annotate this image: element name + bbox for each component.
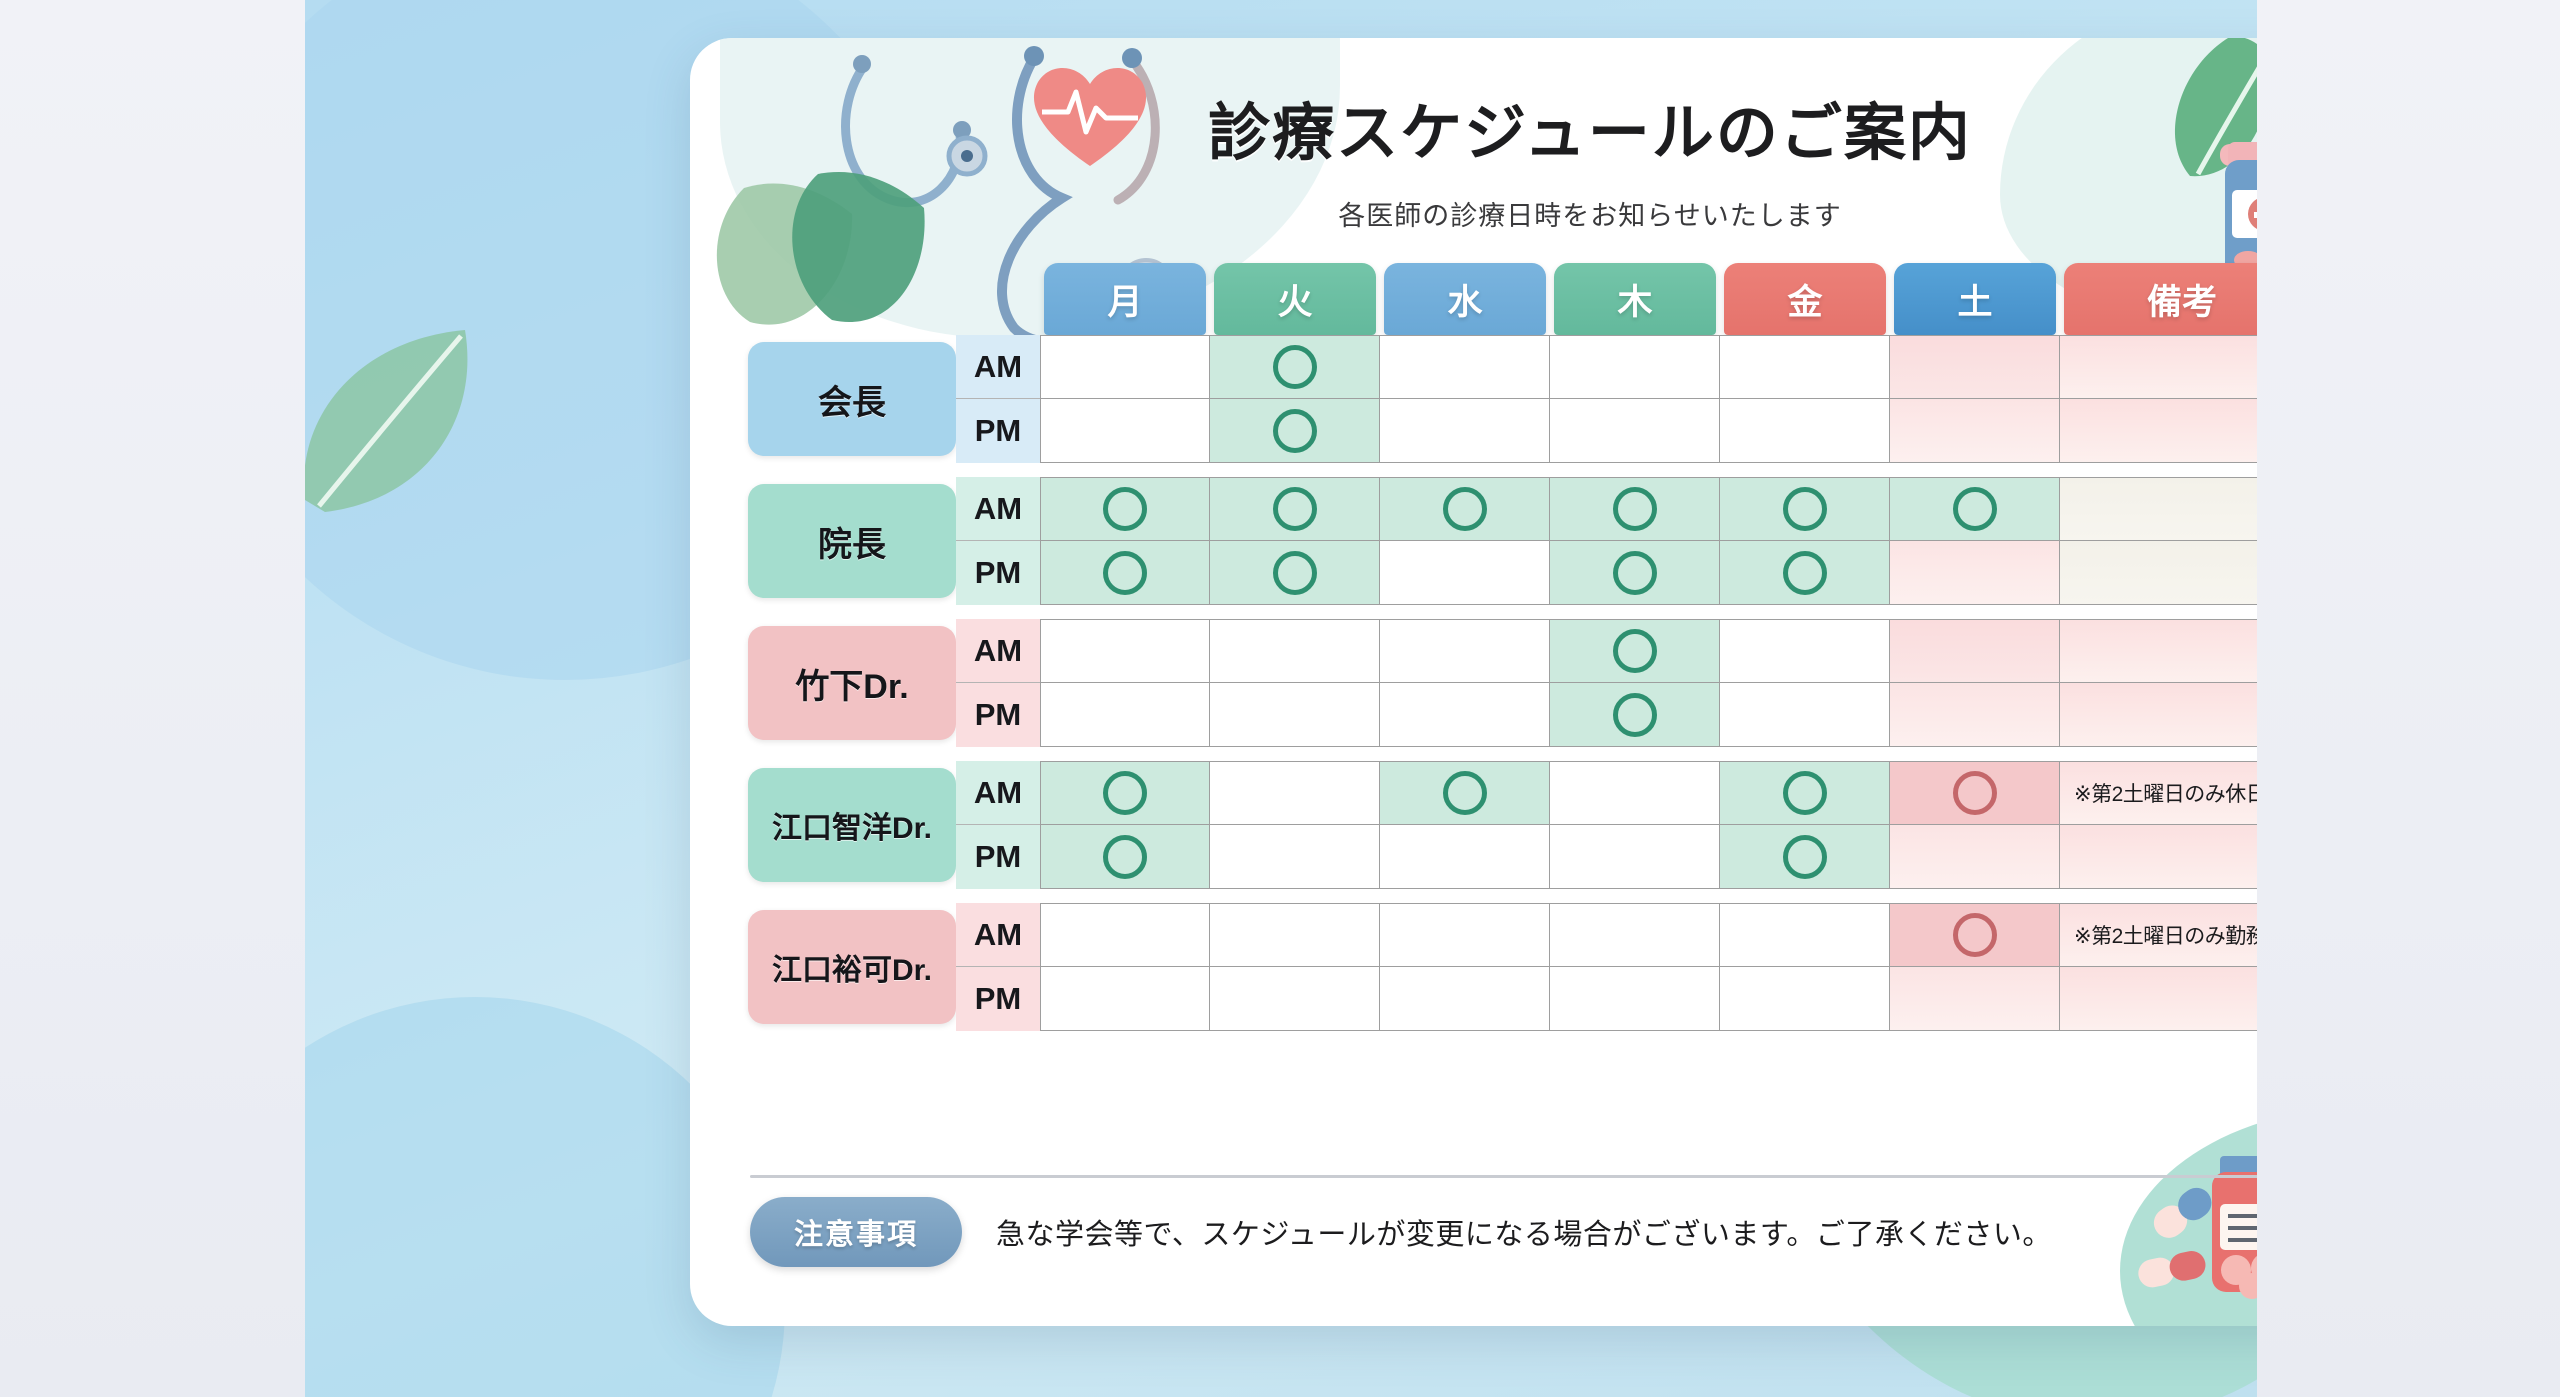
available-mark-icon	[1953, 487, 1997, 531]
available-mark-icon	[1613, 629, 1657, 673]
cell-takeshita-mon-am[interactable]	[1040, 619, 1210, 683]
period-label-am: AM	[956, 335, 1040, 399]
cell-takeshita-tue-am[interactable]	[1210, 619, 1380, 683]
page-subtitle: 各医師の診療日時をお知らせいたします	[690, 194, 2257, 233]
cell-eguchi-tomohiro-fri-am[interactable]	[1720, 761, 1890, 825]
cell-chairman-sat-am[interactable]	[1890, 335, 2060, 399]
available-mark-icon	[1613, 693, 1657, 737]
cell-chairman-remarks-pm[interactable]	[2060, 399, 2257, 463]
schedule-table: 月 火 水 木 金 土 備考 会長 AM	[748, 263, 2257, 1031]
cell-director-remarks-am[interactable]	[2060, 477, 2257, 541]
period-label-pm: PM	[956, 541, 1040, 605]
cell-eguchi-tomohiro-remarks[interactable]: ※第2土曜日のみ休日	[2060, 761, 2257, 825]
column-header-fri[interactable]: 金	[1724, 263, 1886, 335]
header: 診療スケジュールのご案内 各医師の診療日時をお知らせいたします	[690, 82, 2257, 233]
cell-chairman-tue-am[interactable]	[1210, 335, 1380, 399]
column-header-wed[interactable]: 水	[1384, 263, 1546, 335]
notice-text: 急な学会等で、スケジュールが変更になる場合がございます。ご了承ください。	[996, 1211, 2052, 1253]
cell-eguchi-tomohiro-remarks-pm[interactable]	[2060, 825, 2257, 889]
available-mark-icon	[1783, 835, 1827, 879]
period-label-pm: PM	[956, 683, 1040, 747]
notice-badge: 注意事項	[750, 1197, 962, 1267]
cell-director-fri-pm[interactable]	[1720, 541, 1890, 605]
cell-chairman-fri-pm[interactable]	[1720, 399, 1890, 463]
cell-chairman-fri-am[interactable]	[1720, 335, 1890, 399]
schedule-card: 診療スケジュールのご案内 各医師の診療日時をお知らせいたします 月 火 水 木 …	[690, 38, 2257, 1326]
available-mark-icon	[1783, 551, 1827, 595]
cell-eguchi-tomohiro-thu-pm[interactable]	[1550, 825, 1720, 889]
cell-takeshita-sat-am[interactable]	[1890, 619, 2060, 683]
cell-eguchi-yuka-remarks-pm[interactable]	[2060, 967, 2257, 1031]
available-mark-icon	[1443, 771, 1487, 815]
cell-chairman-mon-pm[interactable]	[1040, 399, 1210, 463]
available-mark-icon	[1273, 551, 1317, 595]
column-header-thu[interactable]: 木	[1554, 263, 1716, 335]
cell-takeshita-thu-pm[interactable]	[1550, 683, 1720, 747]
cell-takeshita-sat-pm[interactable]	[1890, 683, 2060, 747]
available-mark-icon	[1103, 771, 1147, 815]
cell-takeshita-fri-am[interactable]	[1720, 619, 1890, 683]
available-mark-icon	[1103, 487, 1147, 531]
cell-chairman-remarks-am[interactable]	[2060, 335, 2257, 399]
page-title: 診療スケジュールのご案内	[690, 82, 2257, 172]
cell-eguchi-yuka-wed-am[interactable]	[1380, 903, 1550, 967]
cell-director-fri-am[interactable]	[1720, 477, 1890, 541]
column-header-tue[interactable]: 火	[1214, 263, 1376, 335]
row-band-gap	[748, 463, 2257, 477]
screenshot-root: ✦ ✦	[0, 0, 2560, 1397]
column-header-sat[interactable]: 土	[1894, 263, 2056, 335]
cell-director-thu-pm[interactable]	[1550, 541, 1720, 605]
row-band-gap	[748, 747, 2257, 761]
cell-takeshita-thu-am[interactable]	[1550, 619, 1720, 683]
cell-eguchi-tomohiro-wed-am[interactable]	[1380, 761, 1550, 825]
cell-chairman-thu-am[interactable]	[1550, 335, 1720, 399]
footer-divider	[750, 1175, 2257, 1178]
cell-eguchi-tomohiro-mon-pm[interactable]	[1040, 825, 1210, 889]
schedule-grid: 月 火 水 木 金 土 備考 会長 AM	[748, 263, 2257, 1031]
cell-eguchi-tomohiro-tue-am[interactable]	[1210, 761, 1380, 825]
cell-director-wed-am[interactable]	[1380, 477, 1550, 541]
available-mark-icon	[1613, 551, 1657, 595]
row-label-eguchi-yuka: 江口裕可Dr.	[748, 910, 956, 1024]
row-label-eguchi-tomohiro: 江口智洋Dr.	[748, 768, 956, 882]
cell-director-remarks-pm[interactable]	[2060, 541, 2257, 605]
cell-director-tue-pm[interactable]	[1210, 541, 1380, 605]
cell-takeshita-mon-pm[interactable]	[1040, 683, 1210, 747]
cell-chairman-wed-am[interactable]	[1380, 335, 1550, 399]
available-mark-icon	[1273, 487, 1317, 531]
period-label-am: AM	[956, 761, 1040, 825]
period-label-am: AM	[956, 477, 1040, 541]
cell-eguchi-yuka-fri-am[interactable]	[1720, 903, 1890, 967]
cell-eguchi-yuka-tue-am[interactable]	[1210, 903, 1380, 967]
period-label-am: AM	[956, 619, 1040, 683]
cell-eguchi-yuka-sat-am[interactable]	[1890, 903, 2060, 967]
cell-eguchi-yuka-tue-pm[interactable]	[1210, 967, 1380, 1031]
cell-eguchi-tomohiro-sat-pm[interactable]	[1890, 825, 2060, 889]
cell-takeshita-tue-pm[interactable]	[1210, 683, 1380, 747]
cell-eguchi-yuka-remarks[interactable]: ※第2土曜日のみ勤務	[2060, 903, 2257, 967]
cell-chairman-wed-pm[interactable]	[1380, 399, 1550, 463]
available-mark-icon	[1273, 409, 1317, 453]
cell-takeshita-remarks-pm[interactable]	[2060, 683, 2257, 747]
cell-director-sat-am[interactable]	[1890, 477, 2060, 541]
row-band-gap	[748, 889, 2257, 903]
available-mark-icon	[1613, 487, 1657, 531]
header-spacer-ampm	[956, 263, 1040, 335]
row-label-chairman: 会長	[748, 342, 956, 456]
cell-eguchi-yuka-sat-pm[interactable]	[1890, 967, 2060, 1031]
cell-eguchi-tomohiro-sat-am[interactable]	[1890, 761, 2060, 825]
period-label-am: AM	[956, 903, 1040, 967]
cell-director-sat-pm[interactable]	[1890, 541, 2060, 605]
footer: 注意事項 急な学会等で、スケジュールが変更になる場合がございます。ご了承ください…	[750, 1196, 2257, 1268]
period-label-pm: PM	[956, 967, 1040, 1031]
cell-director-tue-am[interactable]	[1210, 477, 1380, 541]
poster-background: ✦ ✦	[305, 0, 2257, 1397]
cell-eguchi-tomohiro-mon-am[interactable]	[1040, 761, 1210, 825]
cell-eguchi-yuka-wed-pm[interactable]	[1380, 967, 1550, 1031]
cell-eguchi-tomohiro-wed-pm[interactable]	[1380, 825, 1550, 889]
conditional-mark-icon	[1953, 913, 1997, 957]
cell-chairman-sat-pm[interactable]	[1890, 399, 2060, 463]
cell-eguchi-yuka-mon-am[interactable]	[1040, 903, 1210, 967]
row-label-director: 院長	[748, 484, 956, 598]
cell-eguchi-yuka-thu-am[interactable]	[1550, 903, 1720, 967]
cell-eguchi-yuka-mon-pm[interactable]	[1040, 967, 1210, 1031]
cell-eguchi-yuka-thu-pm[interactable]	[1550, 967, 1720, 1031]
available-mark-icon	[1103, 835, 1147, 879]
cell-takeshita-fri-pm[interactable]	[1720, 683, 1890, 747]
available-mark-icon	[1273, 345, 1317, 389]
cell-eguchi-tomohiro-tue-pm[interactable]	[1210, 825, 1380, 889]
cell-takeshita-remarks-am[interactable]	[2060, 619, 2257, 683]
row-label-takeshita: 竹下Dr.	[748, 626, 956, 740]
cell-director-wed-pm[interactable]	[1380, 541, 1550, 605]
column-header-remarks[interactable]: 備考	[2064, 263, 2257, 335]
cell-eguchi-yuka-fri-pm[interactable]	[1720, 967, 1890, 1031]
conditional-mark-icon	[1953, 771, 1997, 815]
cell-takeshita-wed-pm[interactable]	[1380, 683, 1550, 747]
cell-chairman-thu-pm[interactable]	[1550, 399, 1720, 463]
header-spacer-name	[748, 263, 956, 335]
period-label-pm: PM	[956, 399, 1040, 463]
cell-takeshita-wed-am[interactable]	[1380, 619, 1550, 683]
cell-eguchi-tomohiro-fri-pm[interactable]	[1720, 825, 1890, 889]
cell-director-thu-am[interactable]	[1550, 477, 1720, 541]
period-label-pm: PM	[956, 825, 1040, 889]
available-mark-icon	[1783, 487, 1827, 531]
cell-eguchi-tomohiro-thu-am[interactable]	[1550, 761, 1720, 825]
cell-chairman-tue-pm[interactable]	[1210, 399, 1380, 463]
available-mark-icon	[1103, 551, 1147, 595]
cell-chairman-mon-am[interactable]	[1040, 335, 1210, 399]
cell-director-mon-pm[interactable]	[1040, 541, 1210, 605]
column-header-mon[interactable]: 月	[1044, 263, 1206, 335]
available-mark-icon	[1443, 487, 1487, 531]
row-band-gap	[748, 605, 2257, 619]
available-mark-icon	[1783, 771, 1827, 815]
cell-director-mon-am[interactable]	[1040, 477, 1210, 541]
